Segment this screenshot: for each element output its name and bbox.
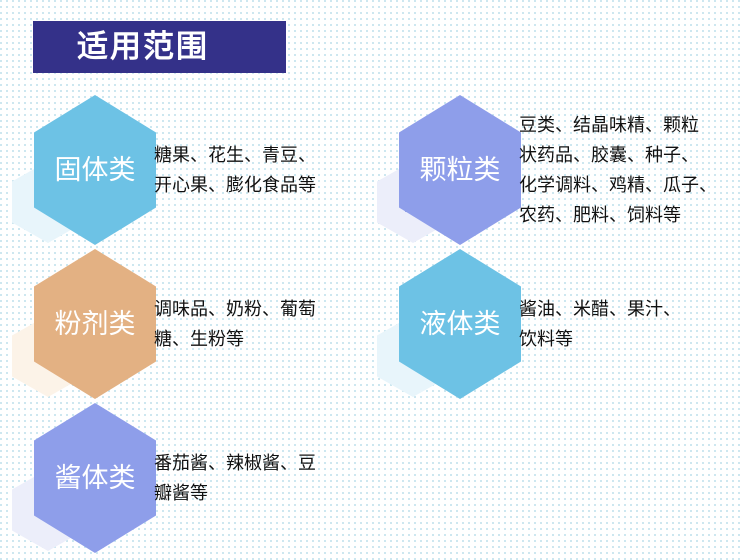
category-description-3: 调味品、奶粉、葡萄 糖、生粉等 bbox=[154, 249, 372, 399]
description-line: 番茄酱、辣椒酱、豆 bbox=[154, 448, 372, 478]
page-title-banner: 适用范围 bbox=[33, 21, 286, 73]
category-description-5: 番茄酱、辣椒酱、豆 瓣酱等 bbox=[154, 403, 372, 553]
description-line: 糖果、花生、青豆、 bbox=[154, 140, 372, 170]
description-line: 豆类、结晶味精、颗粒 bbox=[519, 110, 743, 140]
category-label: 粉剂类 bbox=[55, 311, 136, 338]
category-description-2: 豆类、结晶味精、颗粒 状药品、胶囊、种子、 化学调料、鸡精、瓜子、 农药、肥料、… bbox=[519, 95, 743, 245]
description-line: 酱油、米醋、果汁、 bbox=[519, 294, 737, 324]
category-item-4[interactable]: 4 液体类 酱油、米醋、果汁、 饮料等 bbox=[373, 249, 733, 399]
category-description-1: 糖果、花生、青豆、 开心果、膨化食品等 bbox=[154, 95, 372, 245]
category-description-4: 酱油、米醋、果汁、 饮料等 bbox=[519, 249, 737, 399]
description-line: 状药品、胶囊、种子、 bbox=[519, 140, 743, 170]
category-label: 固体类 bbox=[55, 157, 136, 184]
description-line: 农药、肥料、饲料等 bbox=[519, 200, 743, 230]
description-line: 化学调料、鸡精、瓜子、 bbox=[519, 170, 743, 200]
category-item-1[interactable]: 1 固体类 糖果、花生、青豆、 开心果、膨化食品等 bbox=[8, 95, 368, 245]
category-label: 液体类 bbox=[420, 311, 501, 338]
category-item-5[interactable]: 5 酱体类 番茄酱、辣椒酱、豆 瓣酱等 bbox=[8, 403, 368, 553]
category-label: 颗粒类 bbox=[420, 157, 501, 184]
description-line: 饮料等 bbox=[519, 324, 737, 354]
description-line: 开心果、膨化食品等 bbox=[154, 170, 372, 200]
page-title: 适用范围 bbox=[77, 32, 209, 63]
category-item-2[interactable]: 2 颗粒类 豆类、结晶味精、颗粒 状药品、胶囊、种子、 化学调料、鸡精、瓜子、 … bbox=[373, 95, 733, 245]
description-line: 糖、生粉等 bbox=[154, 324, 372, 354]
description-line: 瓣酱等 bbox=[154, 478, 372, 508]
slide-root: { "header": { "title": "适用范围", "banner_c… bbox=[0, 0, 743, 560]
description-line: 调味品、奶粉、葡萄 bbox=[154, 294, 372, 324]
category-item-3[interactable]: 3 粉剂类 调味品、奶粉、葡萄 糖、生粉等 bbox=[8, 249, 368, 399]
category-label: 酱体类 bbox=[55, 465, 136, 492]
